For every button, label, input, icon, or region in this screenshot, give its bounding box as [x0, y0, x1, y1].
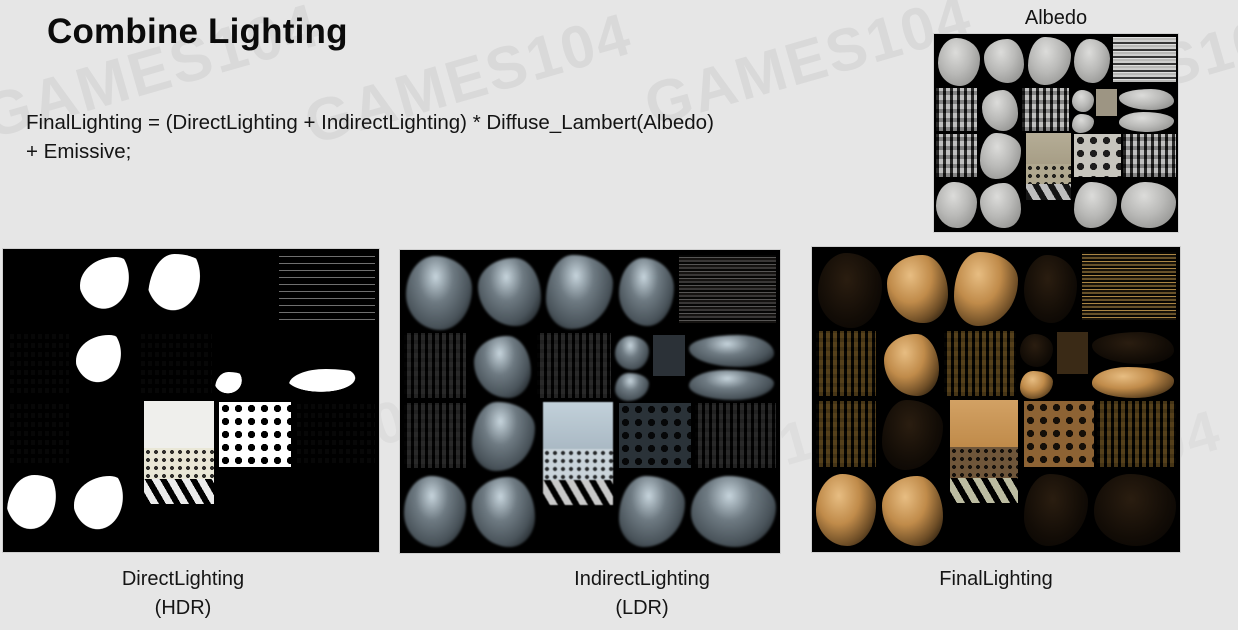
atlas-tile	[472, 402, 535, 472]
atlas-tile	[1020, 334, 1053, 368]
caption-line-1: DirectLighting	[63, 568, 303, 591]
atlas-tile	[1096, 89, 1117, 116]
atlas-tile	[954, 252, 1018, 327]
atlas-tile	[882, 476, 943, 546]
atlas-tile	[148, 254, 214, 328]
atlas-tile	[294, 402, 375, 467]
atlas-tile	[537, 333, 611, 398]
atlas-tile	[980, 183, 1020, 229]
atlas-tile	[138, 332, 211, 397]
atlas-tile	[1024, 255, 1077, 324]
atlas-tile	[1024, 474, 1088, 546]
formula-text: FinalLighting = (DirectLighting + Indire…	[26, 108, 714, 166]
atlas-tile	[1123, 134, 1175, 177]
atlas-tile	[279, 254, 375, 322]
atlas-tile	[1024, 401, 1094, 467]
atlas-tile	[404, 333, 467, 398]
slide-root: GAMES104 GAMES104 GAMES104 GAMES104 GAME…	[0, 0, 1238, 630]
final-lighting-caption: FinalLighting	[876, 568, 1116, 597]
atlas-tile	[1074, 182, 1117, 229]
atlas-tile	[615, 336, 649, 369]
formula-line-2: + Emissive;	[26, 140, 131, 163]
atlas-tile	[1074, 39, 1109, 84]
atlas-tile	[1072, 90, 1094, 112]
atlas-tile	[74, 401, 136, 471]
atlas-tile	[984, 39, 1024, 84]
caption-line-2: (HDR)	[63, 597, 303, 620]
atlas-tile	[289, 369, 374, 399]
atlas-tile	[472, 477, 535, 547]
atlas-tile	[1057, 332, 1088, 373]
atlas-tile	[653, 335, 685, 376]
atlas-tile	[1113, 37, 1175, 82]
atlas-tile	[1121, 182, 1176, 229]
atlas-tile	[406, 256, 473, 330]
atlas-tile	[9, 255, 75, 329]
atlas-tile	[695, 403, 777, 468]
caption-line-1: IndirectLighting	[502, 568, 782, 591]
atlas-tile	[884, 334, 939, 397]
atlas-tile	[1092, 332, 1175, 364]
atlas-tile	[619, 476, 686, 547]
direct-lighting-image	[3, 249, 379, 552]
atlas-tile	[944, 331, 1016, 397]
albedo-label: Albedo	[934, 7, 1178, 30]
atlas-tile	[1082, 252, 1176, 321]
atlas-tile	[689, 370, 775, 400]
albedo-texture-atlas	[934, 34, 1178, 232]
atlas-tile	[936, 134, 976, 177]
atlas-tile	[816, 474, 877, 546]
atlas-tile	[816, 331, 877, 397]
atlas-ground-tile	[543, 402, 613, 505]
atlas-tile	[1020, 371, 1053, 400]
atlas-tile	[816, 401, 877, 467]
final-lighting-image	[812, 247, 1180, 552]
atlas-tile	[215, 372, 249, 401]
atlas-tile	[219, 402, 290, 467]
atlas-tile	[615, 373, 649, 402]
atlas-tile	[289, 334, 374, 366]
atlas-tile	[253, 334, 285, 375]
atlas-tile	[1092, 367, 1175, 398]
atlas-tile	[936, 88, 976, 131]
atlas-tile	[982, 90, 1019, 131]
atlas-tile	[478, 258, 541, 326]
atlas-tile	[689, 335, 775, 367]
atlas-tile	[219, 475, 285, 546]
caption-line-1: FinalLighting	[876, 568, 1116, 591]
atlas-ground-tile	[950, 400, 1018, 504]
atlas-tile	[882, 400, 943, 470]
atlas-tile	[691, 476, 777, 547]
atlas-tile	[80, 257, 142, 325]
atlas-tile	[1094, 474, 1177, 546]
atlas-tile	[74, 476, 136, 546]
atlas-tile	[936, 182, 976, 229]
atlas-tile	[1097, 401, 1176, 467]
atlas-tile	[1028, 37, 1071, 86]
atlas-tile	[818, 253, 882, 328]
atlas-tile	[938, 38, 981, 87]
atlas-tile	[7, 402, 69, 467]
atlas-tile	[1119, 89, 1174, 110]
atlas-tile	[219, 257, 274, 325]
atlas-tile	[619, 258, 674, 326]
atlas-tile	[7, 475, 69, 546]
atlas-ground-tile	[144, 401, 214, 504]
atlas-tile	[291, 475, 376, 546]
caption-line-2: (LDR)	[502, 597, 782, 620]
direct-lighting-caption: DirectLighting (HDR)	[63, 568, 303, 620]
atlas-tile	[546, 255, 613, 329]
page-title: Combine Lighting	[47, 12, 348, 52]
atlas-tile	[1072, 114, 1094, 133]
indirect-lighting-caption: IndirectLighting (LDR)	[502, 568, 782, 620]
atlas-tile	[887, 255, 948, 324]
atlas-tile	[679, 255, 776, 323]
atlas-tile	[474, 336, 531, 398]
atlas-ground-tile	[1026, 133, 1071, 200]
atlas-tile	[1022, 88, 1070, 131]
atlas-tile	[404, 403, 467, 468]
atlas-tile	[1074, 134, 1120, 177]
atlas-tile	[76, 335, 132, 397]
formula-line-1: FinalLighting = (DirectLighting + Indire…	[26, 111, 714, 134]
atlas-tile	[215, 335, 249, 368]
atlas-tile	[1119, 112, 1174, 132]
atlas-tile	[404, 476, 467, 547]
atlas-tile	[7, 332, 69, 397]
atlas-tile	[980, 133, 1020, 179]
indirect-lighting-image	[400, 250, 780, 553]
atlas-tile	[619, 403, 691, 468]
